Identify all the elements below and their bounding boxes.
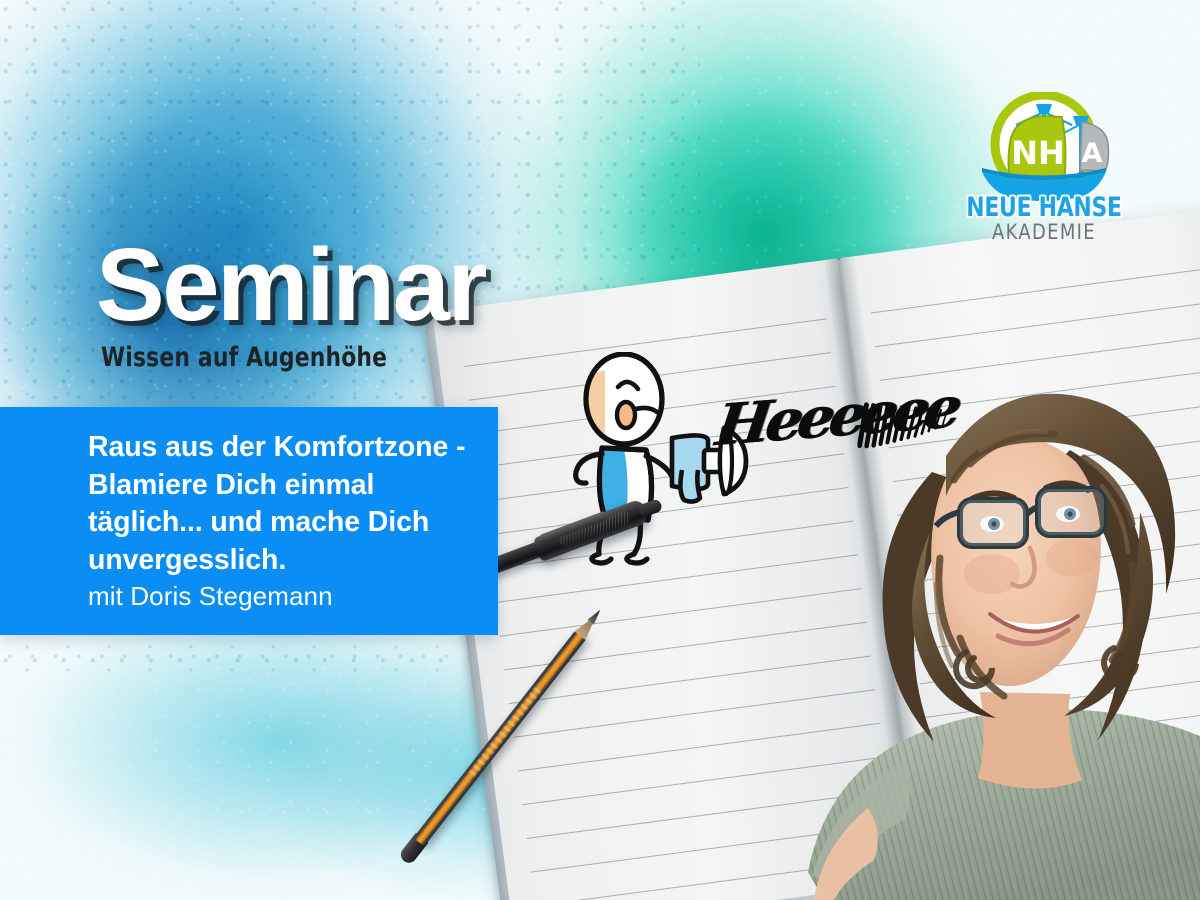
callout-headline-line: Blamiere Dich einmal [88, 467, 472, 505]
page-title: Seminar [96, 236, 485, 335]
callout-headline: Raus aus der Komfortzone - Blamiere Dich… [88, 429, 472, 579]
pen-tip [638, 498, 663, 518]
presenter-portrait [784, 352, 1200, 900]
callout-box: Raus aus der Komfortzone - Blamiere Dich… [0, 407, 498, 635]
title-block: Seminar Wissen auf Augenhöhe [96, 236, 485, 373]
seminar-poster: Heeeeee [0, 0, 1200, 900]
svg-text:NH: NH [1011, 134, 1065, 172]
svg-text:A: A [1082, 138, 1103, 169]
logo-subwordmark: AKADEMIE [962, 220, 1125, 244]
callout-presenter: mit Doris Stegemann [88, 581, 472, 612]
logo-wordmark: NEUE HANSE [965, 192, 1123, 223]
callout-headline-line: unvergesslich. [88, 542, 472, 580]
callout-headline-line: täglich... und mache Dich [88, 504, 472, 542]
neue-hanse-akademie-logo[interactable]: A NH NEUE HANSE AKADEMIE [958, 92, 1130, 254]
page-subtitle: Wissen auf Augenhöhe [101, 342, 447, 373]
callout-headline-line: Raus aus der Komfortzone - [88, 429, 472, 467]
